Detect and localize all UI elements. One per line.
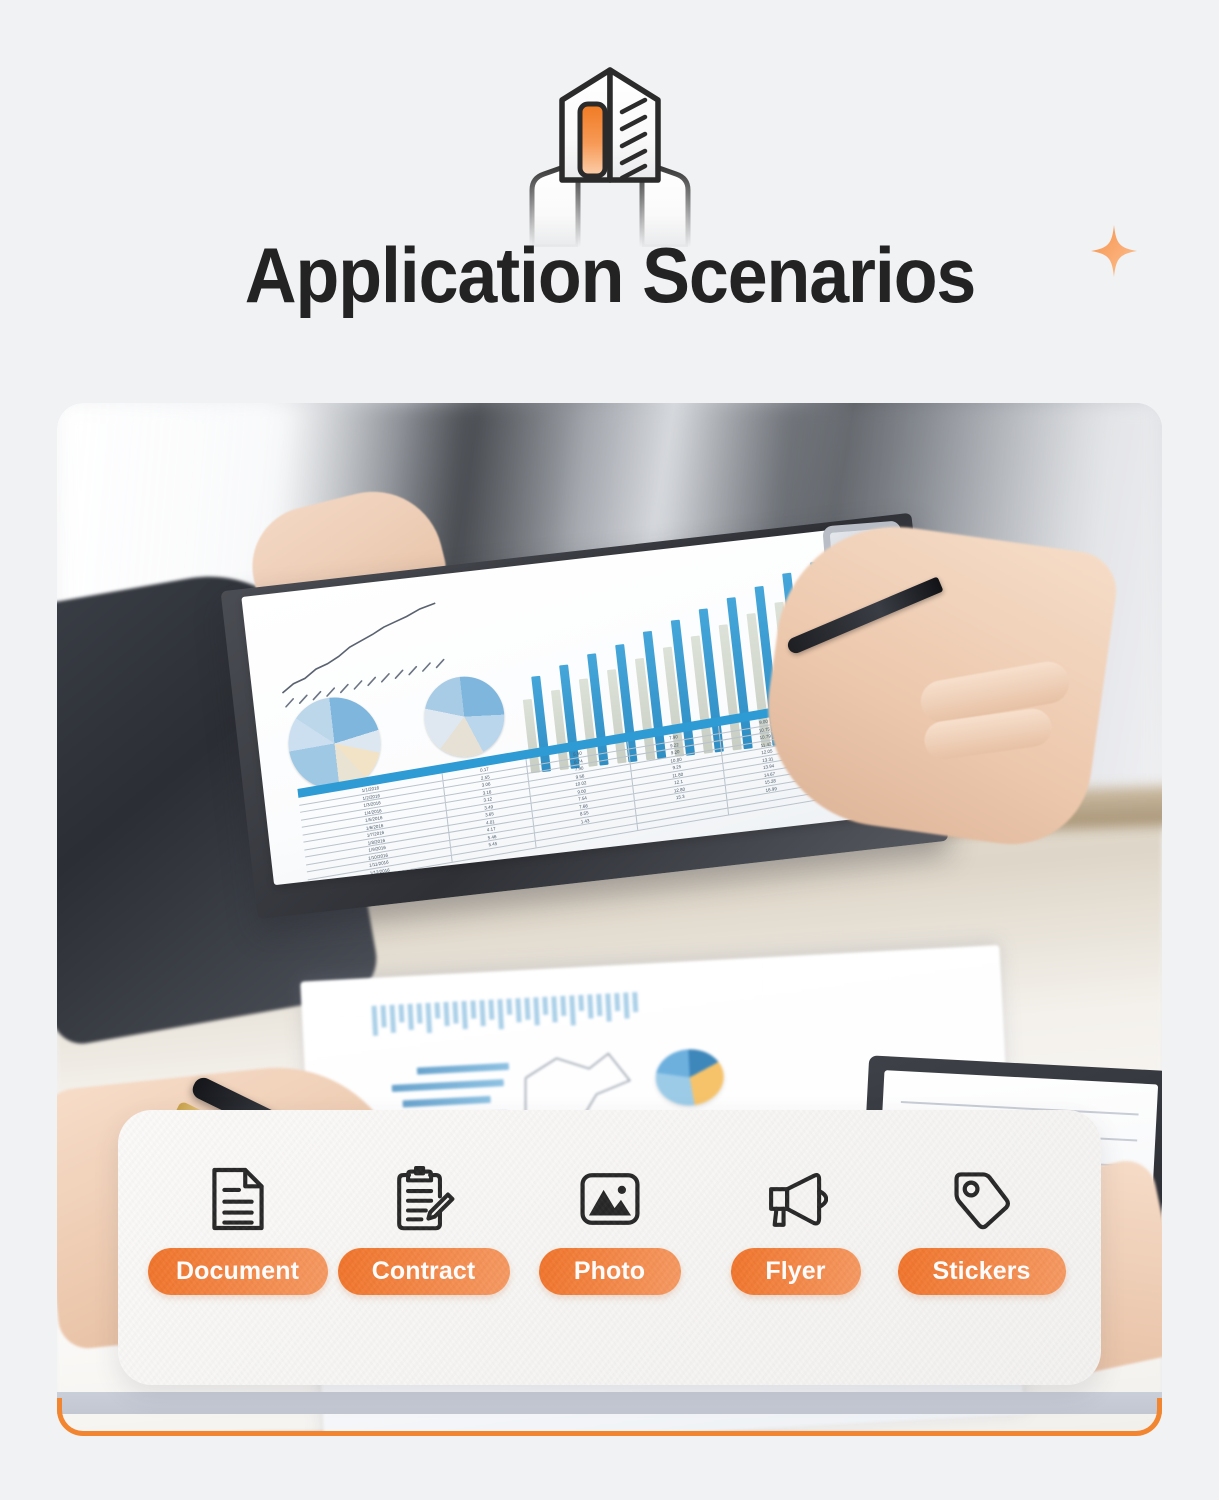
- megaphone-icon: [762, 1162, 830, 1236]
- document-page-icon: [204, 1162, 272, 1236]
- scenario-tag-label-document[interactable]: Document: [148, 1248, 328, 1295]
- scenario-tag-contract[interactable]: Contract: [331, 1162, 517, 1295]
- paper-tick-row: [372, 992, 639, 1040]
- photo-card-lower-shadow: [57, 1392, 1162, 1414]
- page-title: Application Scenarios: [244, 236, 974, 314]
- image-photo-icon: [576, 1162, 644, 1236]
- page-header: Application Scenarios: [0, 0, 1219, 385]
- scenario-tag-photo[interactable]: Photo: [517, 1162, 703, 1295]
- application-scenarios-page: Application Scenarios: [0, 0, 1219, 1500]
- paper-pie-chart-1: [654, 1048, 725, 1107]
- scenario-tag-label-photo[interactable]: Photo: [539, 1248, 681, 1295]
- scenario-tag-flyer[interactable]: Flyer: [703, 1162, 889, 1295]
- scenario-tag-stickers[interactable]: Stickers: [889, 1162, 1075, 1295]
- scenario-tag-label-flyer[interactable]: Flyer: [731, 1248, 861, 1295]
- scenario-tags-row: Document Contract Photo Flyer Stickers: [118, 1162, 1101, 1295]
- building-tower-icon: [500, 62, 720, 247]
- clipboard-pencil-icon: [390, 1162, 458, 1236]
- scenario-tags-panel: Document Contract Photo Flyer Stickers: [118, 1110, 1101, 1385]
- scenario-tag-document[interactable]: Document: [145, 1162, 331, 1295]
- scenario-tag-label-stickers[interactable]: Stickers: [898, 1248, 1066, 1295]
- page-title-row: Application Scenarios: [0, 236, 1219, 314]
- sparkle-star-icon: [1091, 225, 1137, 277]
- scenario-tag-label-contract[interactable]: Contract: [338, 1248, 510, 1295]
- price-tag-icon: [948, 1162, 1016, 1236]
